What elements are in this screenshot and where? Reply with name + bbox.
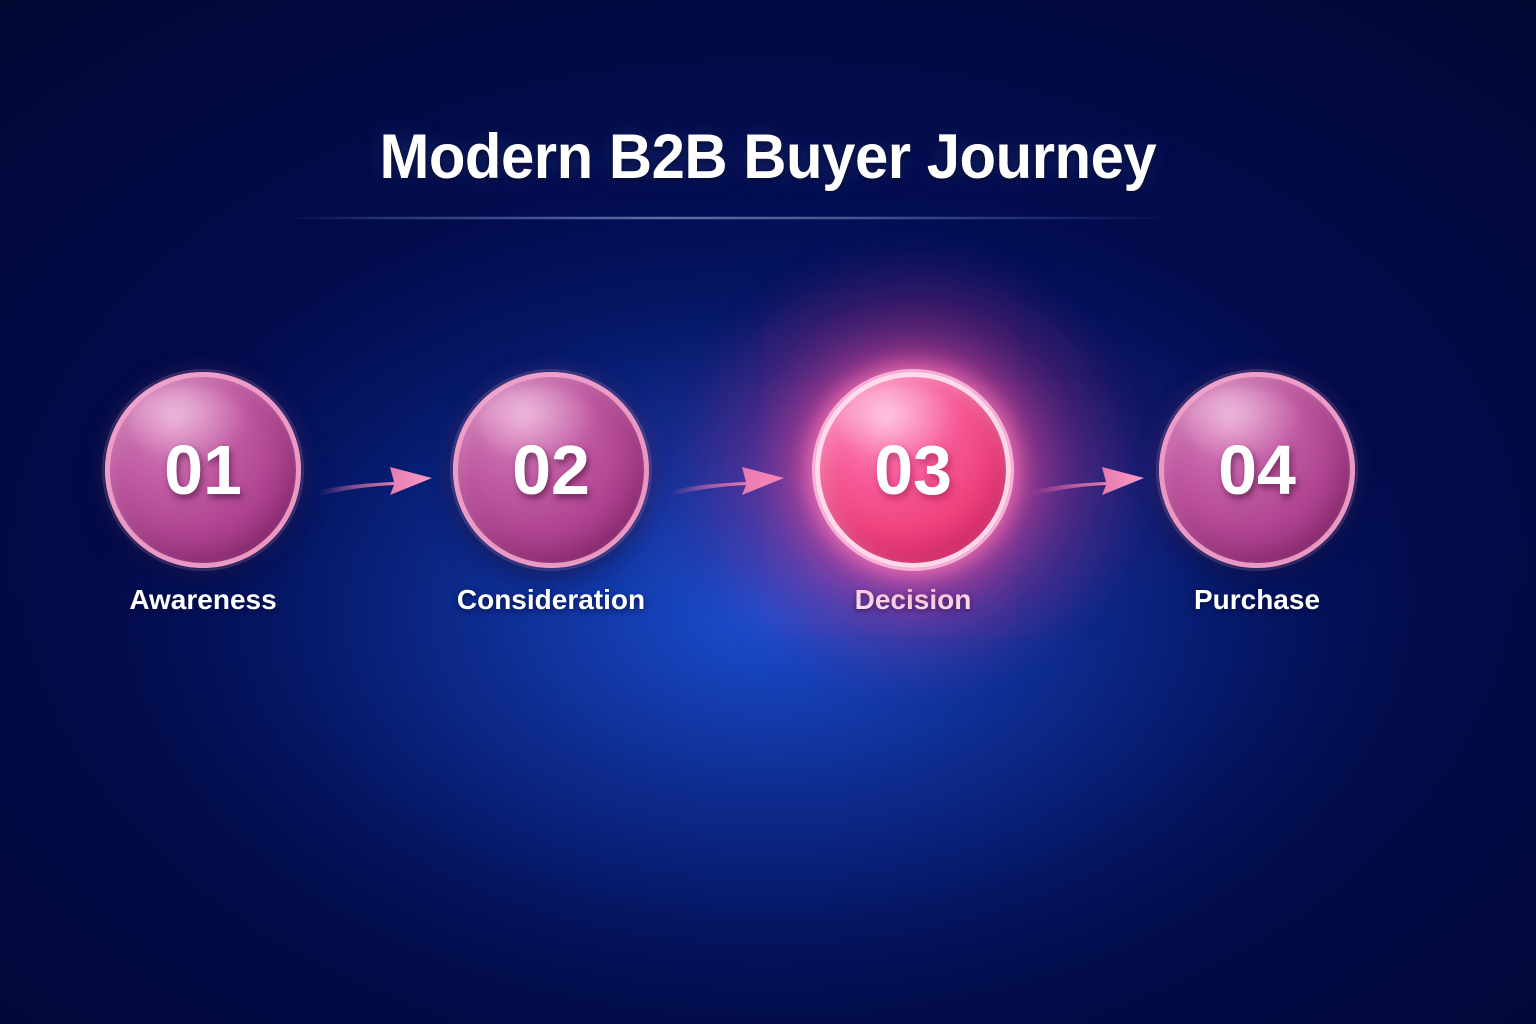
step-label-04: Purchase (1097, 584, 1417, 616)
step-number-01: 01 (105, 372, 301, 568)
arrow-1-to-2-icon (316, 445, 444, 511)
step-number-02: 02 (453, 372, 649, 568)
step-label-02: Consideration (391, 584, 711, 616)
journey-steps: 01 Awareness 02 Consideration 03 Decisio… (0, 0, 1536, 1024)
arrow-2-to-3-icon (668, 445, 796, 511)
journey-step-02[interactable]: 02 Consideration (451, 372, 651, 632)
journey-step-04[interactable]: 04 Purchase (1157, 372, 1357, 632)
infographic-canvas: Modern B2B Buyer Journey 01 Awareness 02… (0, 0, 1536, 1024)
step-circle-03[interactable]: 03 (815, 372, 1011, 568)
arrow-3-to-4-icon (1028, 445, 1156, 511)
step-circle-01[interactable]: 01 (105, 372, 301, 568)
step-circle-02[interactable]: 02 (453, 372, 649, 568)
step-number-04: 04 (1159, 372, 1355, 568)
journey-step-03[interactable]: 03 Decision (813, 372, 1013, 632)
step-label-01: Awareness (43, 584, 363, 616)
step-circle-04[interactable]: 04 (1159, 372, 1355, 568)
step-label-03: Decision (753, 584, 1073, 616)
journey-step-01[interactable]: 01 Awareness (103, 372, 303, 632)
step-number-03: 03 (815, 372, 1011, 568)
